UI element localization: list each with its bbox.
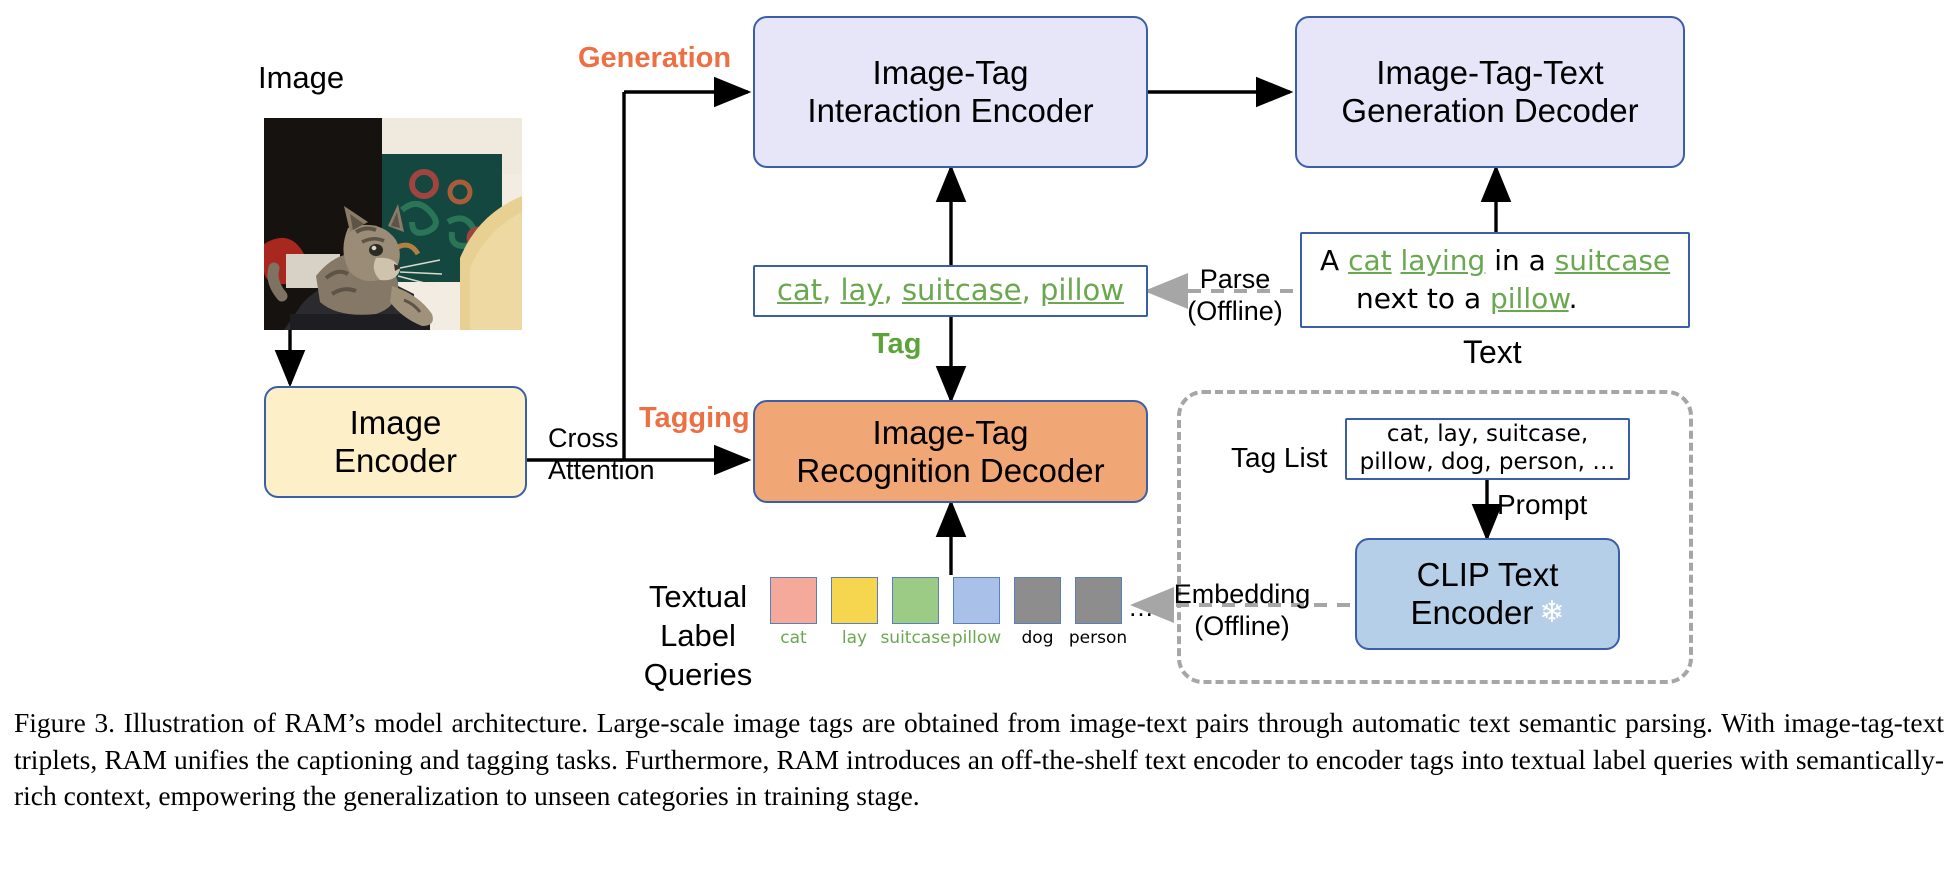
tag-pillow: pillow <box>1040 273 1124 307</box>
queries-line1: Textual <box>608 578 788 617</box>
query-chip-label-person: person <box>1058 628 1138 648</box>
image-tag-interaction-encoder-box[interactable]: Image-Tag Interaction Encoder <box>753 16 1148 168</box>
tag-list-line2: pillow, dog, person, … <box>1360 449 1616 477</box>
snowflake-icon: ❄ <box>1539 598 1564 628</box>
image-tag-recognition-decoder-box[interactable]: Image-Tag Recognition Decoder <box>753 400 1148 503</box>
tagging-label: Tagging <box>639 402 750 435</box>
tags-text: cat, lay, suitcase, pillow <box>777 274 1124 307</box>
text-label: Text <box>1463 334 1522 371</box>
recognition-decoder-line2: Recognition Decoder <box>796 452 1104 490</box>
queries-ellipsis: … <box>1128 592 1154 623</box>
caption-tag-suitcase: suitcase <box>1555 244 1670 277</box>
query-chip-label-pillow: pillow <box>943 628 1010 648</box>
tag-label: Tag <box>872 328 921 361</box>
caption-tag-laying: laying <box>1401 244 1486 277</box>
parse-line2: (Offline) <box>1175 295 1295 327</box>
caption-text-box[interactable]: A cat laying in a suitcase next to a pil… <box>1300 232 1690 328</box>
caption-tag-cat: cat <box>1348 244 1392 277</box>
tag-list-label: Tag List <box>1231 442 1328 474</box>
cross-attention-line2: Attention <box>548 454 655 486</box>
embedding-offline-label: Embedding (Offline) <box>1142 578 1342 643</box>
sample-image <box>264 118 522 330</box>
figure-caption-text: Illustration of RAM’s model architecture… <box>14 707 1944 811</box>
prompt-label: Prompt <box>1497 489 1587 521</box>
caption-tag-pillow: pillow <box>1490 282 1569 315</box>
interaction-encoder-line2: Interaction Encoder <box>807 92 1093 130</box>
tags-box[interactable]: cat, lay, suitcase, pillow <box>753 265 1148 317</box>
parse-offline-label: Parse (Offline) <box>1175 263 1295 328</box>
clip-line1: CLIP Text <box>1417 556 1559 594</box>
tag-suitcase: suitcase <box>902 273 1022 307</box>
query-chip-label-cat: cat <box>760 628 827 648</box>
generation-decoder-line2: Generation Decoder <box>1341 92 1638 130</box>
image-tag-text-generation-decoder-box[interactable]: Image-Tag-Text Generation Decoder <box>1295 16 1685 168</box>
query-chip-cat[interactable] <box>770 577 817 624</box>
figure-caption: Figure 3. Illustration of RAM’s model ar… <box>14 705 1944 815</box>
figure-canvas: Image <box>0 0 1956 879</box>
figure-caption-label: Figure 3. <box>14 707 115 738</box>
interaction-encoder-line1: Image-Tag <box>873 54 1029 92</box>
clip-line2: Encoder <box>1410 594 1533 632</box>
image-encoder-line2: Encoder <box>334 442 457 480</box>
query-chip-lay[interactable] <box>831 577 878 624</box>
embedding-line1: Embedding <box>1142 578 1342 610</box>
generation-decoder-line1: Image-Tag-Text <box>1376 54 1603 92</box>
image-label: Image <box>258 60 344 96</box>
kitten-photo-svg <box>264 118 522 330</box>
query-chip-dog[interactable] <box>1014 577 1061 624</box>
caption-line2: next to a pillow. <box>1356 280 1577 318</box>
image-encoder-box[interactable]: Image Encoder <box>264 386 527 498</box>
tag-list-box[interactable]: cat, lay, suitcase, pillow, dog, person,… <box>1345 418 1630 480</box>
embedding-line2: (Offline) <box>1142 610 1342 642</box>
query-chip-person[interactable] <box>1075 577 1122 624</box>
generation-label: Generation <box>578 42 731 75</box>
query-chip-suitcase[interactable] <box>892 577 939 624</box>
tag-list-line1: cat, lay, suitcase, <box>1387 421 1588 449</box>
tag-lay: lay <box>841 273 884 307</box>
clip-text-encoder-box[interactable]: CLIP Text Encoder ❄ <box>1355 538 1620 650</box>
query-chip-pillow[interactable] <box>953 577 1000 624</box>
tag-cat: cat <box>777 273 822 307</box>
caption-line1: A cat laying in a suitcase <box>1320 242 1670 280</box>
recognition-decoder-line1: Image-Tag <box>873 414 1029 452</box>
parse-line1: Parse <box>1175 263 1295 295</box>
image-encoder-line1: Image <box>350 404 442 442</box>
query-chip-label-suitcase: suitcase <box>878 628 953 648</box>
